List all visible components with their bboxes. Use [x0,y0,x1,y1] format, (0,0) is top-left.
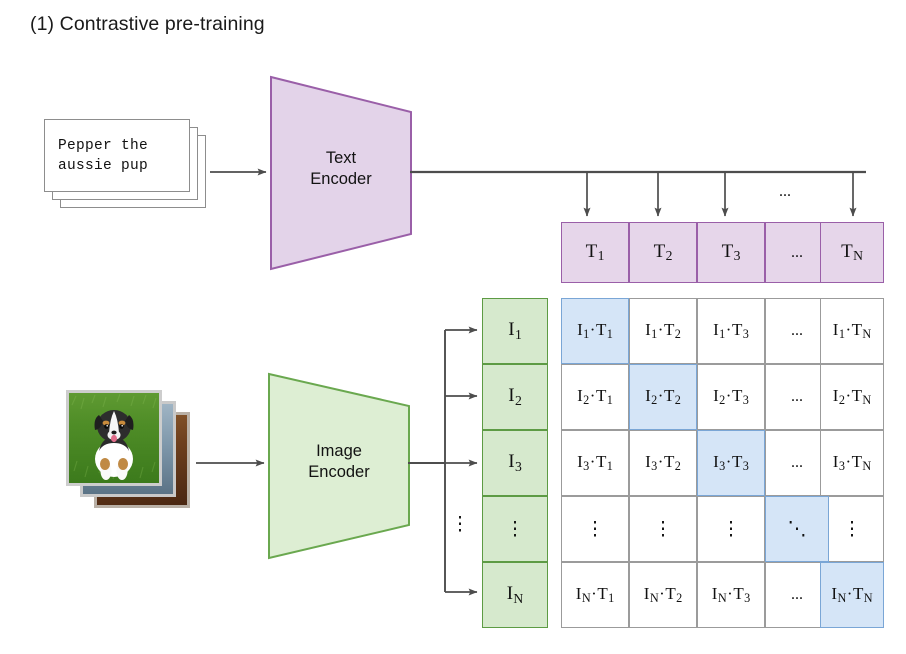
matrix-cell: IN·T3 [697,562,765,628]
matrix-cell: I1·T3 [697,298,765,364]
image-embedding-cell: I1 [482,298,548,364]
matrix-cell: I1·T2 [629,298,697,364]
image-embedding-cell: I2 [482,364,548,430]
matrix-cell-diagonal: I3·T3 [697,430,765,496]
matrix-cell: ⋮ [629,496,697,562]
matrix-cell: I2·T3 [697,364,765,430]
matrix-cell-diagonal: ⋱ [765,496,829,562]
matrix-cell: I1·TN [820,298,884,364]
matrix-cell-diagonal: I1·T1 [561,298,629,364]
diagram-canvas: (1) Contrastive pre-training Pepper the … [0,0,906,654]
image-bus-ellipsis: ⋮ [449,513,471,536]
matrix-cell-diagonal: I2·T2 [629,364,697,430]
matrix-cell: I2·T1 [561,364,629,430]
matrix-cell: I2·TN [820,364,884,430]
text-embedding-cell: T3 [697,222,765,283]
matrix-cell: ⋮ [561,496,629,562]
image-embedding-cell: ⋮ [482,496,548,562]
matrix-cell: IN·T2 [629,562,697,628]
matrix-cell: ⋮ [697,496,765,562]
matrix-cell: I3·T2 [629,430,697,496]
matrix-cell: IN·T1 [561,562,629,628]
text-bus-ellipsis: ... [768,183,802,201]
image-embedding-cell: IN [482,562,548,628]
text-embedding-cell: T1 [561,222,629,283]
matrix-cell: ⋮ [820,496,884,562]
text-embedding-cell: TN [820,222,884,283]
matrix-cell-diagonal: IN·TN [820,562,884,628]
text-embedding-cell: T2 [629,222,697,283]
matrix-cell: I3·T1 [561,430,629,496]
matrix-cell: I3·TN [820,430,884,496]
image-embedding-cell: I3 [482,430,548,496]
